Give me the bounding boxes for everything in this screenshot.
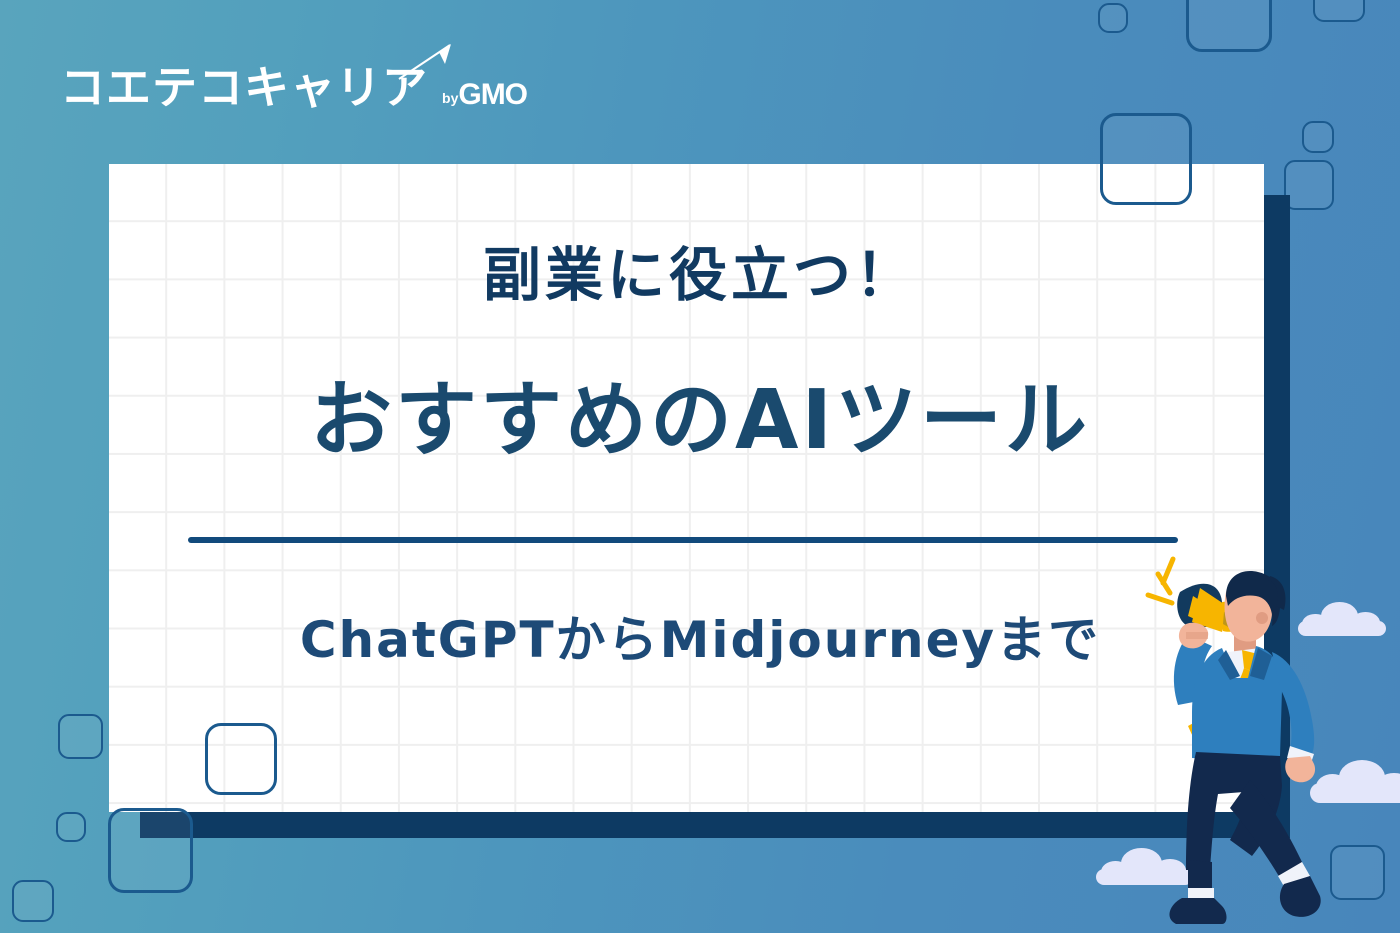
decor-rounded-square <box>1186 0 1272 52</box>
businessman-with-megaphone-illustration <box>1130 540 1400 933</box>
right-hand <box>1285 756 1315 782</box>
decor-rounded-square <box>205 723 277 795</box>
shoe-left <box>1169 898 1226 924</box>
brand-logo[interactable]: コエテコキャリア by GMO <box>60 48 527 110</box>
decor-rounded-square <box>1302 121 1334 153</box>
eyebrow-text: 副業に役立つ！ <box>0 228 1400 312</box>
decor-rounded-square <box>1284 160 1334 210</box>
decor-rounded-square <box>1098 3 1128 33</box>
decor-rounded-square <box>108 808 193 893</box>
brand-logo-text: コエテコキャリア <box>60 65 428 110</box>
brand-logo-gmo: GMO <box>458 80 527 110</box>
card-shadow-bottom <box>140 812 1290 838</box>
page-title: おすすめのAIツール <box>0 380 1400 462</box>
poster-canvas: 副業に役立つ！ おすすめのAIツール ChatGPTからMidjourneyまで… <box>0 0 1400 933</box>
decor-rounded-square <box>12 880 54 922</box>
brand-logo-by: by <box>442 90 458 106</box>
title-divider <box>188 537 1178 543</box>
decor-rounded-square <box>1313 0 1365 22</box>
arrow-swoosh-icon <box>395 42 455 82</box>
megaphone-burst-lines <box>1148 559 1173 603</box>
decor-rounded-square <box>56 812 86 842</box>
decor-rounded-square <box>1100 113 1192 205</box>
decor-rounded-square <box>58 714 103 759</box>
